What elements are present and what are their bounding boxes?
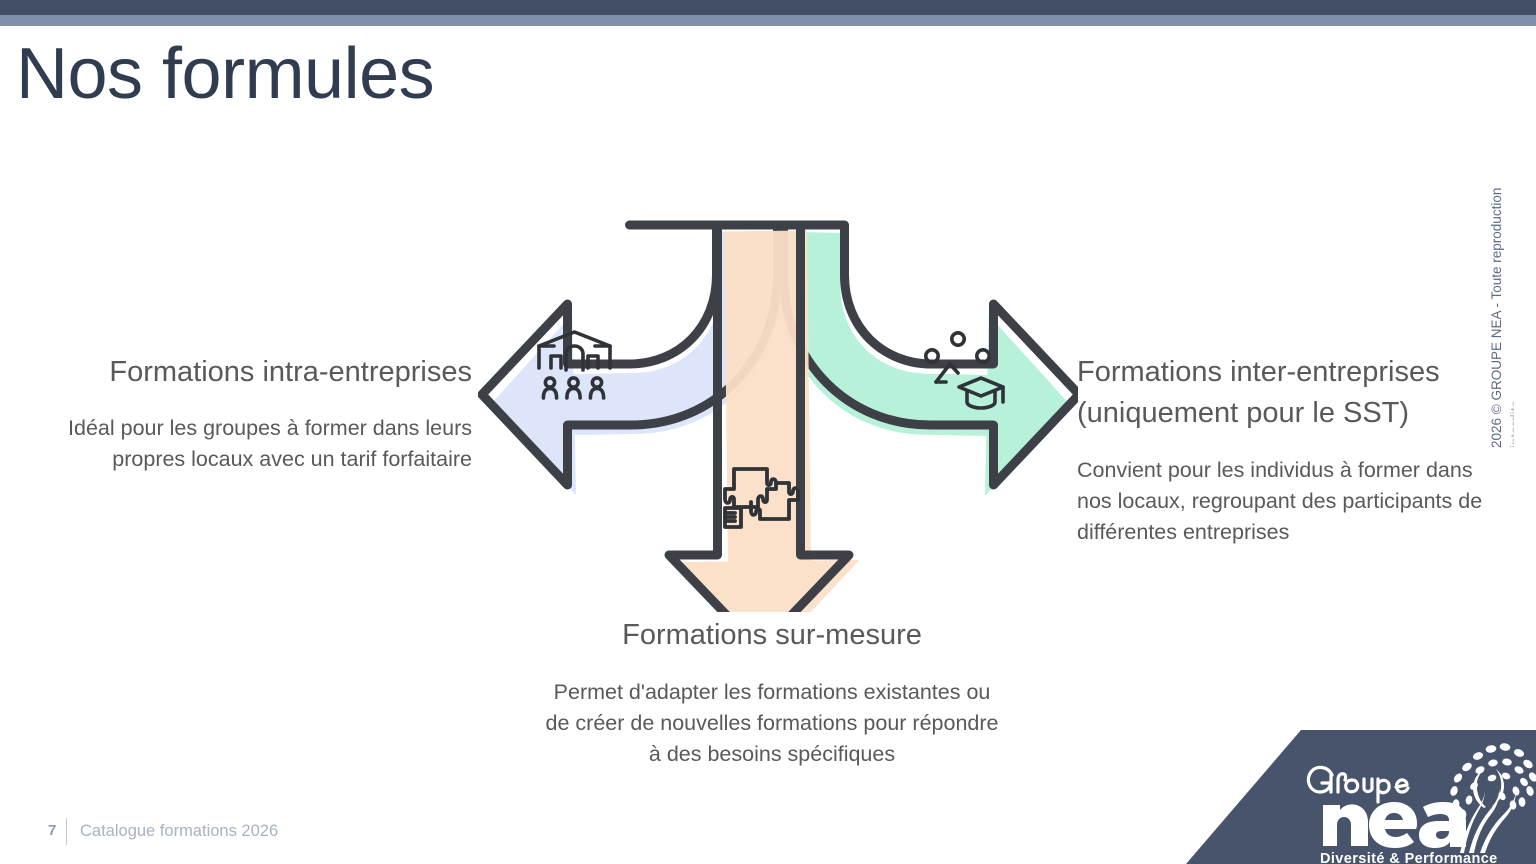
top-band-dark <box>0 0 1536 15</box>
slide-canvas: Nos formules <box>0 0 1536 864</box>
formulas-arrow-diagram <box>478 212 1078 612</box>
block-inter-body: Convient pour les individus à former dan… <box>1077 455 1497 548</box>
block-intra-body: Idéal pour les groupes à former dans leu… <box>30 413 472 475</box>
copyright-line-1: 2026 © GROUPE NEA - Toute reproduction <box>1489 188 1504 448</box>
block-surmesure-body: Permet d'adapter les formations existant… <box>540 677 1004 770</box>
block-surmesure-heading: Formations sur-mesure <box>540 615 1004 656</box>
block-formations-inter: Formations inter-entreprises (uniquement… <box>1077 352 1497 548</box>
copyright-notice: 2026 © GROUPE NEA - Toute reproduction i… <box>1487 148 1506 448</box>
top-band-light <box>0 15 1536 26</box>
nea-logo: Diversité & Performance <box>1186 712 1536 864</box>
page-title: Nos formules <box>16 32 434 116</box>
footer-page-number: 7 <box>48 820 56 842</box>
block-formations-sur-mesure: Formations sur-mesure Permet d'adapter l… <box>540 615 1004 770</box>
copyright-line-2: interdite <box>1506 400 1514 448</box>
block-inter-heading: Formations inter-entreprises (uniquement… <box>1077 352 1497 434</box>
block-intra-heading: Formations intra-entreprises <box>30 352 472 393</box>
footer-document-title: Catalogue formations 2026 <box>80 820 278 842</box>
footer-divider <box>66 818 67 845</box>
block-formations-intra: Formations intra-entreprises Idéal pour … <box>30 352 472 475</box>
